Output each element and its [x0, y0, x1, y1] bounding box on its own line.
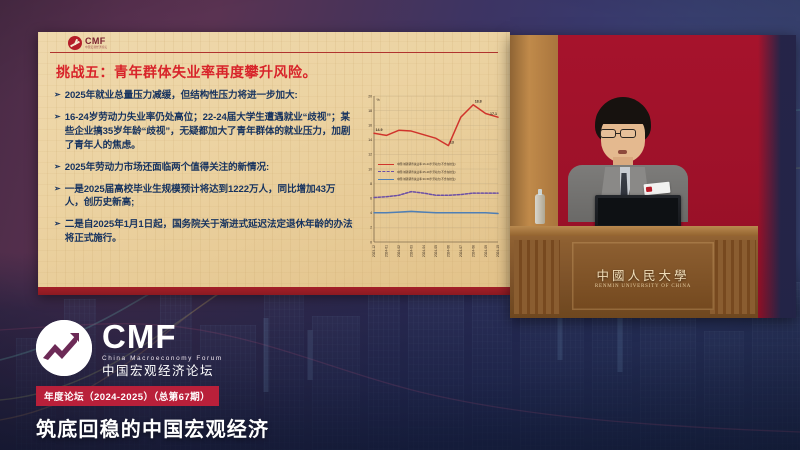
bullet-arrow-icon: ➢ [54, 161, 61, 175]
forum-edition-ribbon: 年度论坛（2024-2025）（总第67期） [36, 386, 219, 406]
brand-name-en: China Macroeconomy Forum [102, 356, 223, 362]
bullet-text: 2025年就业总量压力减缓，但结构性压力将进一步加大: [65, 89, 298, 103]
svg-text:2024-04: 2024-04 [422, 245, 426, 257]
list-item: ➢ 一是2025届高校毕业生规模预计将达到1222万人，同比增加43万人，创历史… [54, 183, 354, 211]
chart-canvas: 02468101214161820%14.91318.817.12023-122… [356, 88, 502, 284]
svg-text:2024-01: 2024-01 [385, 245, 389, 257]
svg-text:18: 18 [368, 109, 372, 113]
glasses-icon [600, 129, 616, 138]
laptop-screen [595, 195, 681, 228]
bullet-arrow-icon: ➢ [54, 183, 61, 211]
svg-text:12: 12 [368, 153, 372, 157]
svg-text:17.1: 17.1 [490, 112, 497, 116]
legend-item: 中国:城镇调查失业率:30-59岁劳动力(不含在校生) [378, 177, 498, 181]
svg-text:2024-06: 2024-06 [447, 245, 451, 257]
cmf-brand-lockup: CMF China Macroeconomy Forum 中国宏观经济论坛 年度… [36, 318, 296, 442]
svg-text:14.9: 14.9 [376, 128, 383, 132]
svg-text:6: 6 [370, 197, 372, 201]
speaker-mouth [618, 150, 627, 154]
slide-title: 挑战五：青年群体失业率再度攀升风险。 [56, 62, 317, 82]
legend-swatch-icon [378, 179, 394, 180]
list-item: ➢ 2025年劳动力市场还面临两个值得关注的新情况: [54, 161, 354, 175]
svg-text:2024-07: 2024-07 [459, 245, 463, 257]
svg-text:4: 4 [370, 211, 372, 215]
bullet-text: 一是2025届高校毕业生规模预计将达到1222万人，同比增加43万人，创历史新高… [65, 183, 354, 211]
slide-logo-subtitle: 中国宏观经济论坛 [85, 47, 107, 50]
bullet-text: 2025年劳动力市场还面临两个值得关注的新情况: [65, 161, 269, 175]
legend-label: 中国:城镇调查失业率:16-24岁劳动力(不含在校生) [397, 162, 456, 166]
bullet-arrow-icon: ➢ [54, 89, 61, 103]
lectern-university-en: RENMIN UNIVERSITY OF CHINA [572, 284, 714, 289]
svg-text:0: 0 [370, 240, 372, 244]
water-bottle [535, 194, 545, 224]
legend-swatch-icon [378, 164, 394, 165]
slide-footer-bar [38, 287, 510, 295]
bullet-text: 16-24岁劳动力失业率仍处高位；22-24届大学生遭遇就业“歧视”；某些企业搞… [65, 111, 354, 153]
slide-logo-text: CMF [85, 37, 107, 46]
svg-text:16: 16 [368, 124, 372, 128]
chart-legend: 中国:城镇调查失业率:16-24岁劳动力(不含在校生) 中国:城镇调查失业率:2… [378, 162, 498, 185]
glasses-bridge [616, 133, 620, 134]
cmf-chart-mark-icon [68, 36, 82, 50]
bullet-arrow-icon: ➢ [54, 111, 61, 153]
svg-text:2024-08: 2024-08 [471, 245, 475, 257]
svg-text:2: 2 [370, 226, 372, 230]
bullet-text: 二是自2025年1月1日起，国务院关于渐进式延迟法定退休年龄的办法将正式施行。 [65, 218, 354, 246]
presentation-slide: CMF 中国宏观经济论坛 挑战五：青年群体失业率再度攀升风险。 ➢ 2025年就… [38, 32, 510, 295]
lockup-top-row: CMF China Macroeconomy Forum 中国宏观经济论坛 [36, 318, 296, 378]
unemployment-line-chart: 02468101214161820%14.91318.817.12023-122… [356, 88, 502, 284]
glasses-icon [620, 129, 636, 138]
legend-item: 中国:城镇调查失业率:25-29岁劳动力(不含在校生) [378, 170, 498, 174]
legend-swatch-icon [378, 171, 394, 172]
svg-text:2024-10: 2024-10 [496, 245, 500, 257]
lectern-front-panel: 中國人民大學 RENMIN UNIVERSITY OF CHINA [572, 242, 714, 310]
speaker-fringe [596, 107, 650, 124]
lectern: 中國人民大學 RENMIN UNIVERSITY OF CHINA [510, 226, 758, 318]
bullet-arrow-icon: ➢ [54, 218, 61, 246]
svg-text:2024-09: 2024-09 [484, 245, 488, 257]
slide-header: CMF 中国宏观经济论坛 [38, 32, 510, 62]
svg-text:8: 8 [370, 182, 372, 186]
brand-name: CMF [102, 320, 223, 353]
svg-text:20: 20 [368, 94, 372, 98]
svg-text:18.8: 18.8 [475, 100, 482, 104]
legend-item: 中国:城镇调查失业率:16-24岁劳动力(不含在校生) [378, 162, 498, 166]
lectern-university-cn: 中國人民大學 [572, 265, 714, 284]
list-item: ➢ 16-24岁劳动力失业率仍处高位；22-24届大学生遭遇就业“歧视”；某些企… [54, 111, 354, 153]
cmf-logo-icon [36, 320, 92, 376]
legend-label: 中国:城镇调查失业率:25-29岁劳动力(不含在校生) [397, 170, 456, 174]
legend-label: 中国:城镇调查失业率:30-59岁劳动力(不含在校生) [397, 177, 456, 181]
svg-text:2024-03: 2024-03 [409, 245, 413, 257]
list-item: ➢ 二是自2025年1月1日起，国务院关于渐进式延迟法定退休年龄的办法将正式施行… [54, 218, 354, 246]
list-item: ➢ 2025年就业总量压力减缓，但结构性压力将进一步加大: [54, 89, 354, 103]
lectern-side-left [514, 240, 560, 314]
lectern-top-edge [510, 226, 758, 236]
broadcast-headline: 筑底回稳的中国宏观经济 [36, 413, 296, 442]
svg-text:2024-05: 2024-05 [434, 245, 438, 257]
slide-cmf-logo: CMF 中国宏观经济论坛 [68, 36, 107, 50]
speaker-video-panel: 中國人民大學 RENMIN UNIVERSITY OF CHINA [510, 35, 796, 318]
lockup-text-block: CMF China Macroeconomy Forum 中国宏观经济论坛 [102, 318, 223, 378]
broadcast-stage: CMF 中国宏观经济论坛 挑战五：青年群体失业率再度攀升风险。 ➢ 2025年就… [0, 0, 800, 450]
video-right-fade [758, 35, 796, 318]
svg-text:13: 13 [450, 140, 454, 144]
header-divider [50, 52, 498, 53]
svg-text:10: 10 [368, 167, 372, 171]
svg-text:%: % [377, 98, 381, 102]
slide-bullet-list: ➢ 2025年就业总量压力减缓，但结构性压力将进一步加大: ➢ 16-24岁劳动… [54, 89, 354, 254]
svg-text:14: 14 [368, 138, 372, 142]
svg-text:2023-12: 2023-12 [372, 245, 376, 257]
brand-name-cn: 中国宏观经济论坛 [102, 365, 223, 378]
lectern-side-right [710, 240, 756, 314]
svg-text:2024-02: 2024-02 [397, 245, 401, 257]
